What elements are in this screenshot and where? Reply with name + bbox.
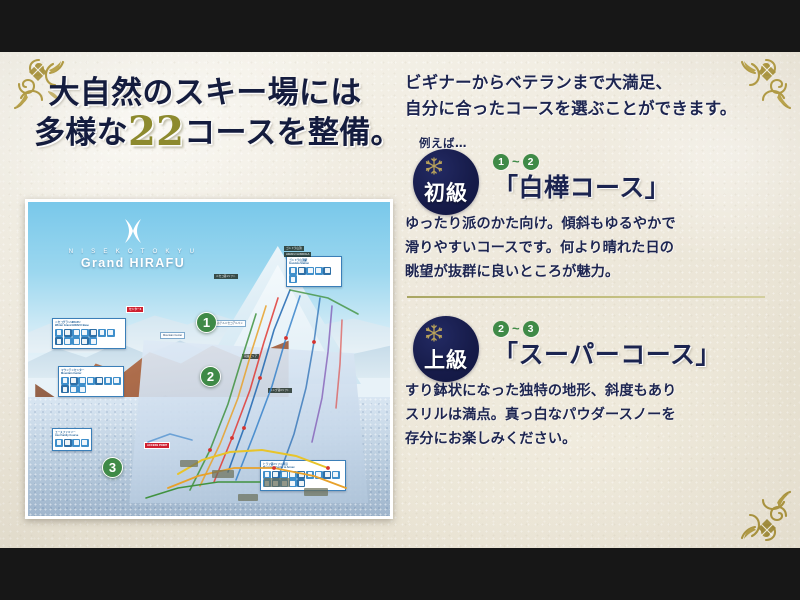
logo-line-1: N I S E K O T O K Y U	[58, 248, 208, 256]
map-marker-1[interactable]: 1	[196, 312, 217, 333]
desc-line: 眺望が抜群に良いところが魅力。	[405, 260, 783, 284]
course-number-to: 2	[523, 154, 539, 170]
hirafu-logo: N I S E K O T O K Y U Grand HIRAFU	[58, 218, 208, 270]
courses-panel: ビギナーからベテランまで大満足、 自分に合ったコースを選ぶことができます。 例え…	[405, 70, 783, 451]
headline-line-2: 多様な22コースを整備。	[0, 112, 392, 153]
lead-paragraph: ビギナーからベテランまで大満足、 自分に合ったコースを選ぶことができます。	[405, 70, 783, 122]
slide-stage: 大自然のスキー場には 多様な22コースを整備。	[0, 0, 800, 600]
desc-line: 滑りやすいコースです。何より晴れた日の	[405, 236, 783, 260]
trail-lines	[146, 290, 358, 498]
logo-line-2: Grand HIRAFU	[58, 256, 208, 270]
headline-line-2-pre: 多様な	[34, 115, 128, 151]
desc-line: すり鉢状になった独特の地形、斜度もあり	[405, 379, 783, 403]
level-badge: 上級	[413, 316, 479, 382]
course-name: 「スーパーコース」	[493, 339, 783, 370]
range-separator: ~	[512, 155, 520, 168]
course-number-to: 3	[523, 321, 539, 337]
level-label: 上級	[413, 344, 479, 374]
course-number-from: 2	[493, 321, 509, 337]
course-description: ゆったり派のかた向け。傾斜もゆるやかで 滑りやすいコースです。何より晴れた日の …	[405, 212, 783, 284]
slide-content: 大自然のスキー場には 多様な22コースを整備。	[0, 52, 800, 548]
hirafu-logo-icon	[121, 218, 145, 244]
map-marker-2[interactable]: 2	[200, 366, 221, 387]
course-info: 2 ~ 3 「スーパーコース」	[493, 316, 783, 370]
snowflake-icon	[424, 156, 444, 176]
desc-line: 存分にお楽しみください。	[405, 427, 783, 451]
level-badge: 初級	[413, 149, 479, 215]
trail-map[interactable]: N I S E K O T O K Y U Grand HIRAFU ニセコグラ…	[25, 199, 393, 519]
course-number-from: 1	[493, 154, 509, 170]
course-description: すり鉢状になった独特の地形、斜度もあり スリルは満点。真っ白なパウダースノーを …	[405, 379, 783, 451]
page-title: 大自然のスキー場には 多様な22コースを整備。	[0, 74, 392, 153]
course-card-advanced: 上級 2 ~ 3 「スーパーコース」 すり鉢状になった独特の地形、斜度もあり ス…	[405, 316, 783, 451]
course-number-range: 1 ~ 2	[493, 152, 783, 171]
headline-line-1: 大自然のスキー場には	[0, 74, 392, 112]
lead-line-1: ビギナーからベテランまで大満足、	[405, 70, 783, 96]
course-number-range: 2 ~ 3	[493, 319, 783, 338]
lead-line-2: 自分に合ったコースを選ぶことができます。	[405, 96, 783, 122]
course-name: 「白樺コース」	[493, 172, 783, 203]
headline-line-2-post: コースを整備。	[184, 115, 402, 151]
map-marker-3[interactable]: 3	[102, 457, 123, 478]
section-divider	[407, 296, 765, 298]
desc-line: スリルは満点。真っ白なパウダースノーを	[405, 403, 783, 427]
course-card-beginner: 初級 1 ~ 2 「白樺コース」 ゆったり派のかた向け。傾斜もゆるやかで 滑りや…	[405, 149, 783, 298]
corner-ornament-icon	[734, 475, 796, 546]
range-separator: ~	[512, 322, 520, 335]
letterbox-bottom	[0, 548, 800, 600]
letterbox-top	[0, 0, 800, 52]
course-info: 1 ~ 2 「白樺コース」	[493, 149, 783, 203]
desc-line: ゆったり派のかた向け。傾斜もゆるやかで	[405, 212, 783, 236]
level-label: 初級	[413, 177, 479, 207]
headline-course-count: 22	[128, 108, 184, 155]
snowflake-icon	[424, 323, 444, 343]
trail-map-image: N I S E K O T O K Y U Grand HIRAFU ニセコグラ…	[28, 202, 390, 516]
